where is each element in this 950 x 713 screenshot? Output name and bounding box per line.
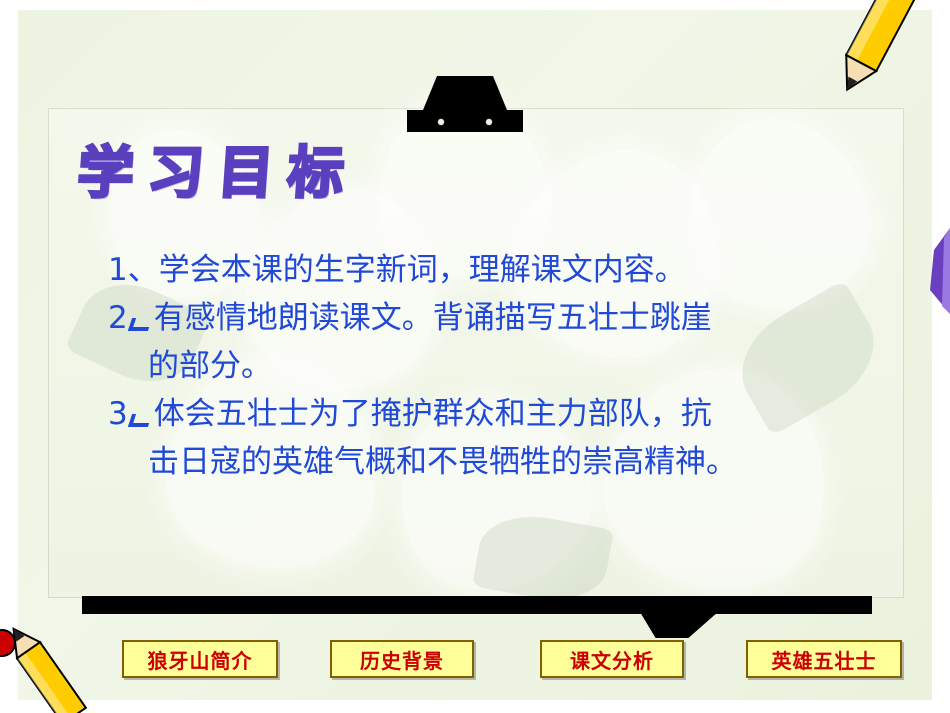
presentation-slide: 学习目标 1、学会本课的生字新词，理解课文内容。 2有感情地朗读课文。背诵描写五…: [0, 0, 950, 713]
objective-line-3-cont: 击日寇的英雄气概和不畏牺牲的崇高精神。: [108, 438, 878, 486]
board-tray: [82, 596, 872, 614]
objectives-list: 1、学会本课的生字新词，理解课文内容。 2有感情地朗读课文。背诵描写五壮士跳崖 …: [108, 246, 878, 486]
navigation-buttons: 狼牙山简介 历史背景 课文分析 英雄五壮士: [0, 640, 950, 680]
nav-button-five-heroes[interactable]: 英雄五壮士: [746, 640, 902, 678]
objective-line-2-cont: 的部分。: [108, 342, 878, 390]
nav-button-history-background[interactable]: 历史背景: [330, 640, 474, 678]
objective-text-2: 有感情地朗读课文。背诵描写五壮士跳崖: [154, 300, 712, 336]
objective-number-3: 3: [108, 396, 128, 432]
page-title: 学习目标: [75, 128, 361, 209]
objective-number-2: 2: [108, 300, 128, 336]
objective-text-3: 体会五壮士为了掩护群众和主力部队，抗: [154, 396, 712, 432]
board-mount-bracket: [407, 76, 523, 132]
nav-button-langyashan-intro[interactable]: 狼牙山简介: [122, 640, 278, 678]
objective-line-3: 3体会五壮士为了掩护群众和主力部队，抗: [108, 390, 878, 438]
objective-line-2: 2有感情地朗读课文。背诵描写五壮士跳崖: [108, 294, 878, 342]
check-mark-icon: [128, 412, 150, 426]
nav-button-text-analysis[interactable]: 课文分析: [540, 640, 684, 678]
objective-line-1: 1、学会本课的生字新词，理解课文内容。: [108, 246, 878, 294]
purple-edge-decoration: [928, 228, 950, 314]
check-mark-icon: [128, 316, 150, 330]
